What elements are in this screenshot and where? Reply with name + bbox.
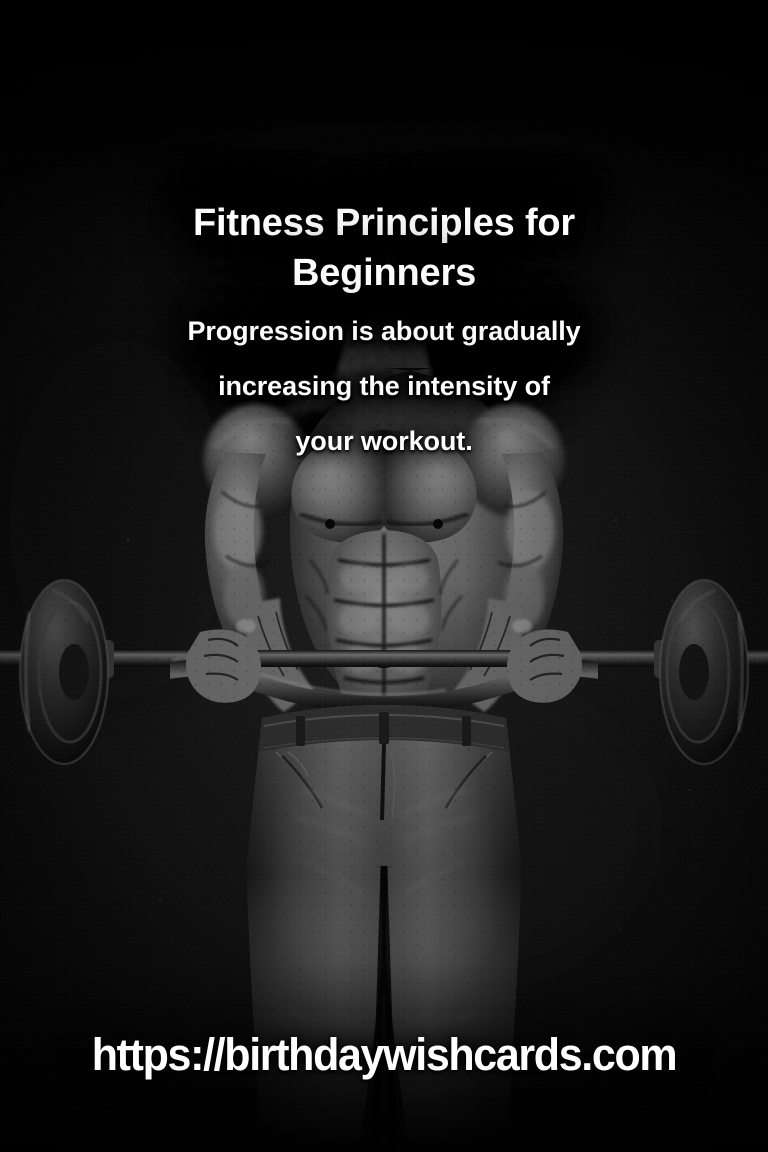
- website-url[interactable]: https://birthdaywishcards.com: [92, 1032, 676, 1077]
- text-overlay: Fitness Principles for Beginners Progres…: [0, 0, 768, 1152]
- page-title: Fitness Principles for Beginners: [149, 198, 619, 298]
- subtitle-line-1: Progression is about gradually: [0, 318, 768, 345]
- subtitle-block: Progression is about gradually increasin…: [0, 318, 768, 483]
- subtitle-line-3: your workout.: [0, 428, 768, 455]
- poster-canvas: Fitness Principles for Beginners Progres…: [0, 0, 768, 1152]
- footer-url-bar: https://birthdaywishcards.com: [0, 1032, 768, 1077]
- headline-block: Fitness Principles for Beginners: [0, 198, 768, 298]
- subtitle-line-2: increasing the intensity of: [0, 373, 768, 400]
